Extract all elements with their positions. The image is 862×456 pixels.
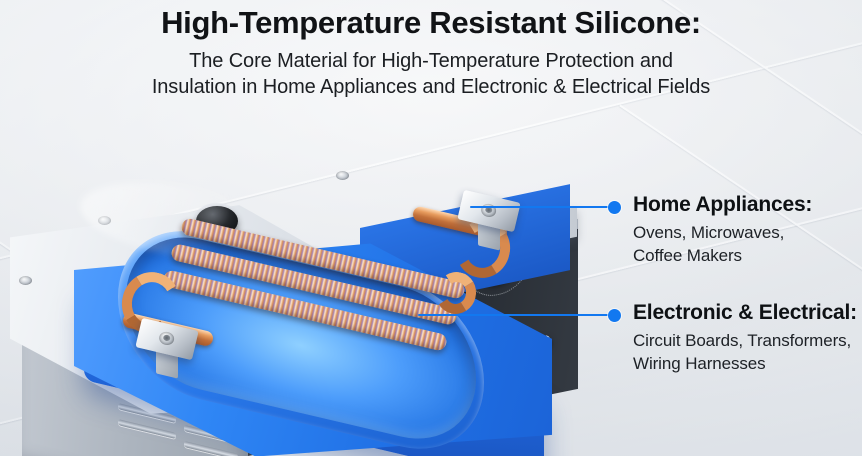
callout-desc-line-2: Coffee Makers xyxy=(633,245,812,268)
callout-title: Home Appliances: xyxy=(633,194,812,216)
callout-text-block: Electronic & Electrical: Circuit Boards,… xyxy=(633,302,857,375)
callout-leader-line xyxy=(418,314,615,316)
callout-desc-line-1: Circuit Boards, Transformers, xyxy=(633,330,857,353)
callout-description: Ovens, Microwaves, Coffee Makers xyxy=(633,222,812,267)
callout-desc-line-1: Ovens, Microwaves, xyxy=(633,222,812,245)
callout-desc-line-2: Wiring Harnesses xyxy=(633,353,857,376)
callout-bullet-dot xyxy=(608,201,621,214)
callout-group: Home Appliances: Ovens, Microwaves, Coff… xyxy=(0,0,862,456)
callout-leader-line xyxy=(470,206,615,208)
callout-text-block: Home Appliances: Ovens, Microwaves, Coff… xyxy=(633,194,812,267)
infographic-canvas: High-Temperature Resistant Silicone: The… xyxy=(0,0,862,456)
callout-title: Electronic & Electrical: xyxy=(633,302,857,324)
callout-bullet-dot xyxy=(608,309,621,322)
callout-description: Circuit Boards, Transformers, Wiring Har… xyxy=(633,330,857,375)
